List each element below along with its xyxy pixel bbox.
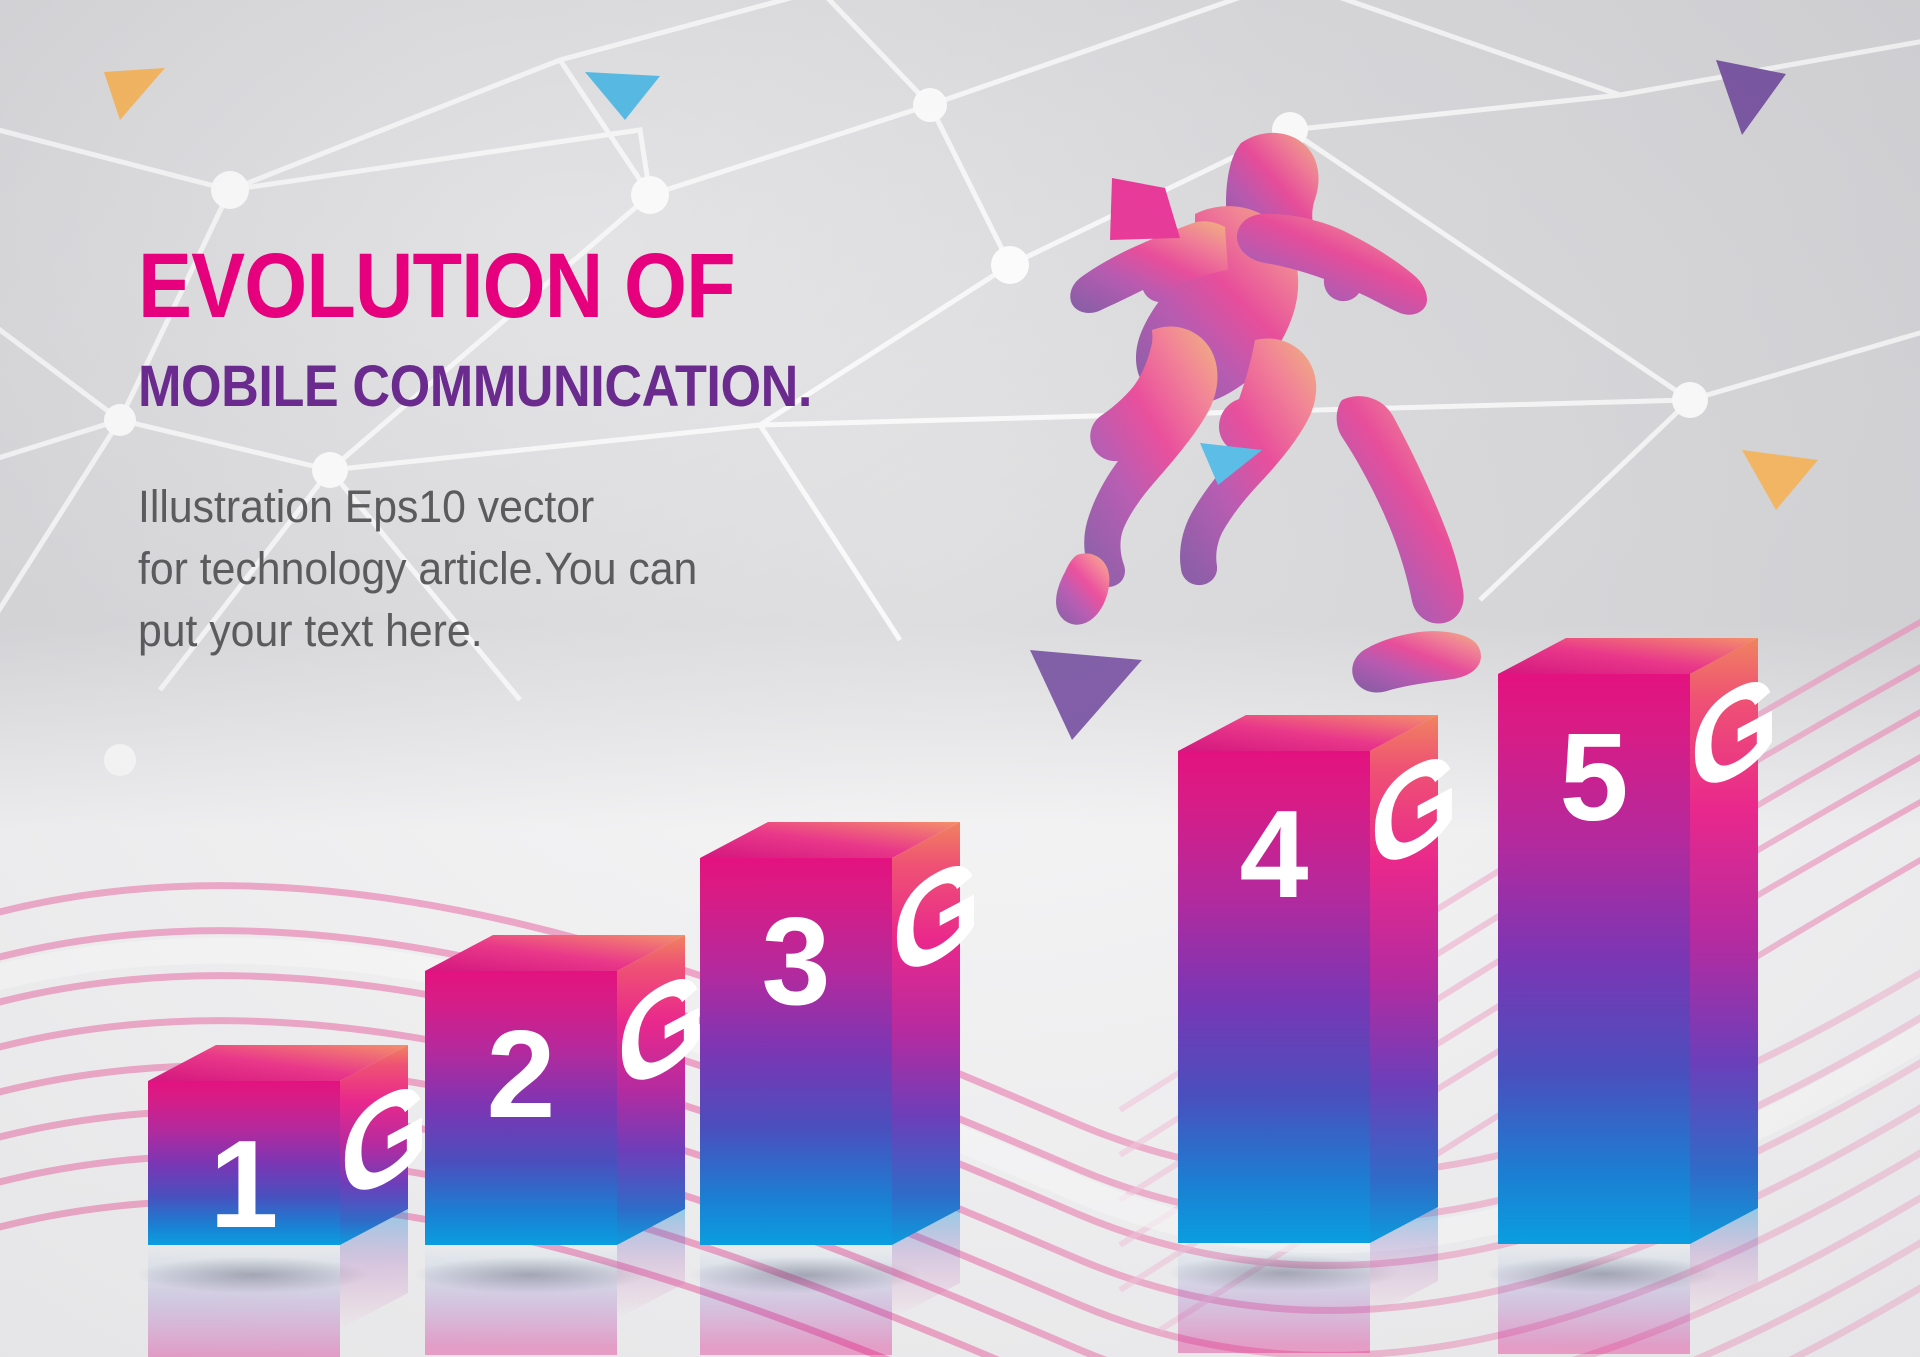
bar-2g-reflection [425, 1245, 617, 1355]
bar-4g-reflection-side [1370, 1207, 1438, 1317]
bar-2g[interactable]: 2 G [425, 935, 617, 1355]
bar-1g-digit: 1 [148, 1123, 340, 1247]
bar-3g-reflection-side [892, 1209, 960, 1319]
bar-1g-reflection [148, 1245, 340, 1357]
bar-2g-reflection-side [617, 1209, 685, 1319]
bar-3g[interactable]: 3 G [700, 822, 892, 1357]
bar-1g[interactable]: 1 G [148, 1045, 340, 1345]
bar-5g-reflection-side [1690, 1208, 1758, 1318]
bar-2g-digit: 2 [425, 1013, 617, 1137]
bar-4g-reflection [1178, 1243, 1370, 1353]
bar-3g-digit: 3 [700, 900, 892, 1024]
bar-1g-reflection-side [340, 1209, 408, 1329]
bar-4g[interactable]: 4 G [1178, 715, 1370, 1357]
bar-chart: 1 G [0, 0, 1920, 1357]
bar-5g-reflection [1498, 1244, 1690, 1354]
bar-4g-digit: 4 [1178, 793, 1370, 917]
poster-canvas: EVOLUTION OF MOBILE COMMUNICATION. Illus… [0, 0, 1920, 1357]
bar-5g-digit: 5 [1498, 716, 1690, 840]
bar-3g-reflection [700, 1245, 892, 1355]
bar-5g[interactable]: 5 G [1498, 638, 1690, 1357]
